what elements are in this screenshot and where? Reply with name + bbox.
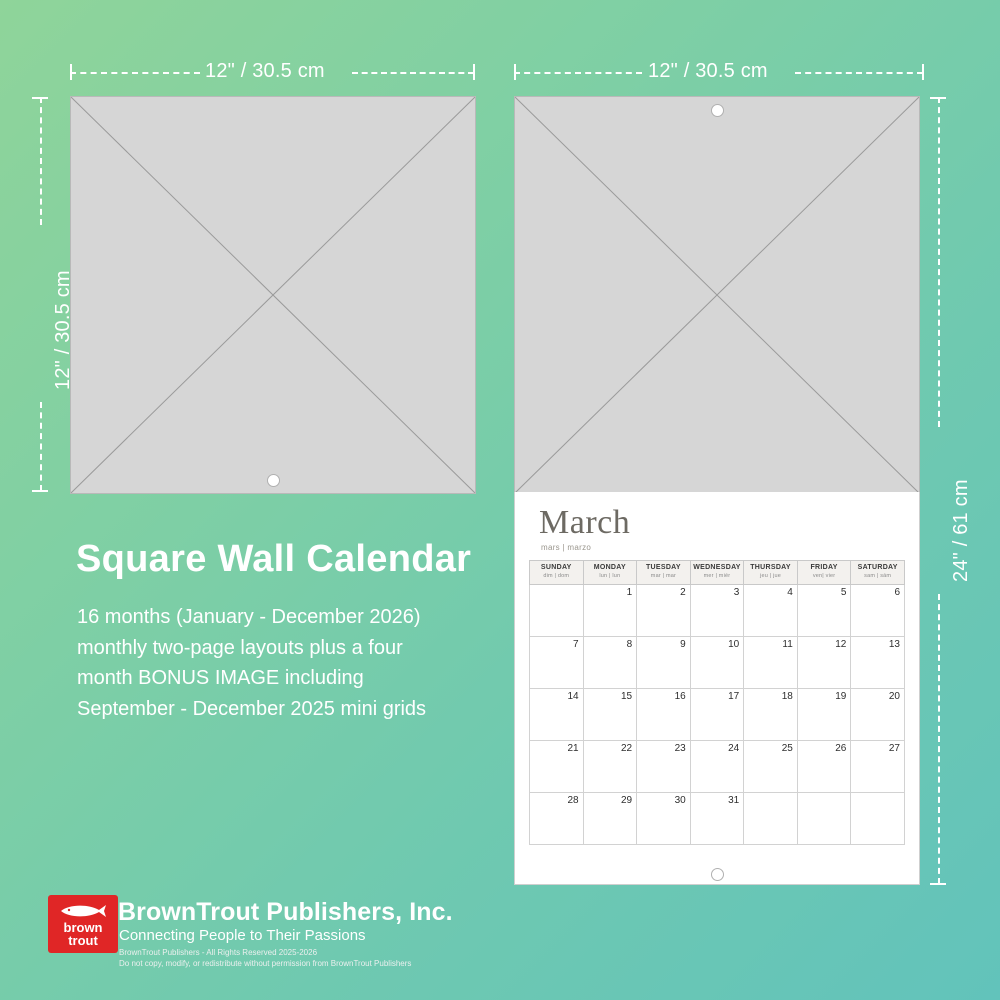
dimension-top-right-label: 12" / 30.5 cm (648, 60, 768, 83)
weekday-sub: ven| vier (798, 573, 851, 580)
weekday-sub: mar | mar (637, 573, 690, 580)
legal-notice: BrownTrout Publishers - All Rights Reser… (119, 948, 411, 970)
weekday-name: MONDAY (594, 564, 626, 571)
calendar-day-cell[interactable]: 24 (690, 740, 744, 792)
weekday-name: TUESDAY (646, 564, 681, 571)
weekday-name: SATURDAY (858, 564, 898, 571)
calendar-day-cell[interactable] (744, 792, 798, 844)
legal-line: BrownTrout Publishers - All Rights Reser… (119, 948, 411, 959)
calendar-day-cell[interactable]: 29 (583, 792, 637, 844)
weekday-header: SUNDAYdim | dom (530, 561, 584, 585)
calendar-week-row: 28 29 30 31 (530, 792, 905, 844)
weekday-sub: mer | miér (691, 573, 744, 580)
placeholder-cross-icon (515, 97, 919, 493)
calendar-day-cell[interactable]: 31 (690, 792, 744, 844)
calendar-day-cell[interactable]: 5 (797, 584, 851, 636)
weekday-header: WEDNESDAYmer | miér (690, 561, 744, 585)
calendar-page: March mars | marzo SUNDAYdim | dom MONDA… (514, 492, 920, 885)
brand-name: BrownTrout Publishers, Inc. (118, 898, 453, 927)
logo-line-2: trout (68, 934, 98, 947)
product-description: 16 months (January - December 2026) mont… (77, 602, 507, 724)
weekday-name: FRIDAY (810, 564, 837, 571)
calendar-day-cell[interactable]: 23 (637, 740, 691, 792)
calendar-day-cell[interactable]: 26 (797, 740, 851, 792)
calendar-month-title: March (515, 492, 919, 540)
dimension-right-vertical-label: 24" / 61 cm (950, 479, 973, 582)
calendar-day-cell[interactable]: 11 (744, 636, 798, 688)
calendar-day-cell[interactable]: 8 (583, 636, 637, 688)
description-line: month BONUS IMAGE including (77, 663, 507, 694)
calendar-day-cell[interactable]: 19 (797, 688, 851, 740)
calendar-day-cell[interactable] (851, 792, 905, 844)
weekday-header: THURSDAYjeu | jue (744, 561, 798, 585)
dim-line-left (514, 72, 642, 74)
weekday-header: FRIDAYven| vier (797, 561, 851, 585)
description-line: 16 months (January - December 2026) (77, 602, 507, 633)
calendar-day-cell[interactable]: 15 (583, 688, 637, 740)
calendar-day-cell[interactable]: 16 (637, 688, 691, 740)
open-calendar-image-placeholder (514, 96, 920, 494)
calendar-day-cell[interactable]: 17 (690, 688, 744, 740)
calendar-month-subtitle: mars | marzo (515, 540, 919, 552)
weekday-sub: jeu | jue (744, 573, 797, 580)
weekday-sub: dim | dom (530, 573, 583, 580)
hanging-hole-icon (267, 474, 280, 487)
dim-cap-right (922, 64, 924, 80)
calendar-week-row: 21 22 23 24 25 26 27 (530, 740, 905, 792)
calendar-grid: SUNDAYdim | dom MONDAYlun | lun TUESDAYm… (529, 560, 905, 845)
brand-tagline: Connecting People to Their Passions (119, 927, 366, 944)
dim-line-top (40, 97, 42, 225)
calendar-day-cell[interactable] (530, 584, 584, 636)
dim-cap-bottom (32, 490, 48, 492)
description-line: monthly two-page layouts plus a four (77, 633, 507, 664)
dim-line-right (352, 72, 474, 74)
calendar-day-cell[interactable]: 1 (583, 584, 637, 636)
calendar-day-cell[interactable]: 18 (744, 688, 798, 740)
weekday-sub: lun | lun (584, 573, 637, 580)
calendar-day-cell[interactable]: 4 (744, 584, 798, 636)
weekday-name: SUNDAY (541, 564, 572, 571)
calendar-day-cell[interactable] (797, 792, 851, 844)
calendar-day-cell[interactable]: 10 (690, 636, 744, 688)
calendar-day-cell[interactable]: 20 (851, 688, 905, 740)
dim-line-bottom (938, 594, 940, 884)
dim-line-bottom (40, 402, 42, 491)
calendar-week-row: 1 2 3 4 5 6 (530, 584, 905, 636)
logo-line-1: brown (64, 921, 103, 934)
legal-line: Do not copy, modify, or redistribute wit… (119, 959, 411, 970)
dim-cap-bottom (930, 883, 946, 885)
weekday-header: TUESDAYmar | mar (637, 561, 691, 585)
description-line: September - December 2025 mini grids (77, 694, 507, 725)
calendar-day-cell[interactable]: 22 (583, 740, 637, 792)
calendar-day-cell[interactable]: 9 (637, 636, 691, 688)
weekday-name: WEDNESDAY (693, 564, 741, 571)
dim-cap-right (473, 64, 475, 80)
calendar-day-cell[interactable]: 14 (530, 688, 584, 740)
calendar-day-cell[interactable]: 2 (637, 584, 691, 636)
trout-fish-icon (59, 902, 107, 920)
weekday-name: THURSDAY (750, 564, 791, 571)
page-title: Square Wall Calendar (76, 538, 471, 581)
calendar-day-cell[interactable]: 12 (797, 636, 851, 688)
cover-image-placeholder (70, 96, 476, 494)
calendar-week-row: 14 15 16 17 18 19 20 (530, 688, 905, 740)
weekday-header: MONDAYlun | lun (583, 561, 637, 585)
placeholder-cross-icon (71, 97, 475, 493)
calendar-day-cell[interactable]: 3 (690, 584, 744, 636)
calendar-day-cell[interactable]: 6 (851, 584, 905, 636)
dimension-top-left-label: 12" / 30.5 cm (205, 60, 325, 83)
calendar-week-row: 7 8 9 10 11 12 13 (530, 636, 905, 688)
calendar-day-cell[interactable]: 13 (851, 636, 905, 688)
dim-line-right (795, 72, 923, 74)
hanging-hole-icon (711, 868, 724, 881)
calendar-day-cell[interactable]: 7 (530, 636, 584, 688)
browntrout-logo: brown trout (48, 895, 118, 953)
calendar-day-cell[interactable]: 25 (744, 740, 798, 792)
weekday-header: SATURDAYsam | sám (851, 561, 905, 585)
calendar-day-cell[interactable]: 30 (637, 792, 691, 844)
dim-line-left (70, 72, 200, 74)
calendar-header-row: SUNDAYdim | dom MONDAYlun | lun TUESDAYm… (530, 561, 905, 585)
dim-line-top (938, 97, 940, 427)
calendar-day-cell[interactable]: 27 (851, 740, 905, 792)
hanging-hole-icon (711, 104, 724, 117)
calendar-day-cell[interactable]: 21 (530, 740, 584, 792)
weekday-sub: sam | sám (851, 573, 904, 580)
calendar-day-cell[interactable]: 28 (530, 792, 584, 844)
